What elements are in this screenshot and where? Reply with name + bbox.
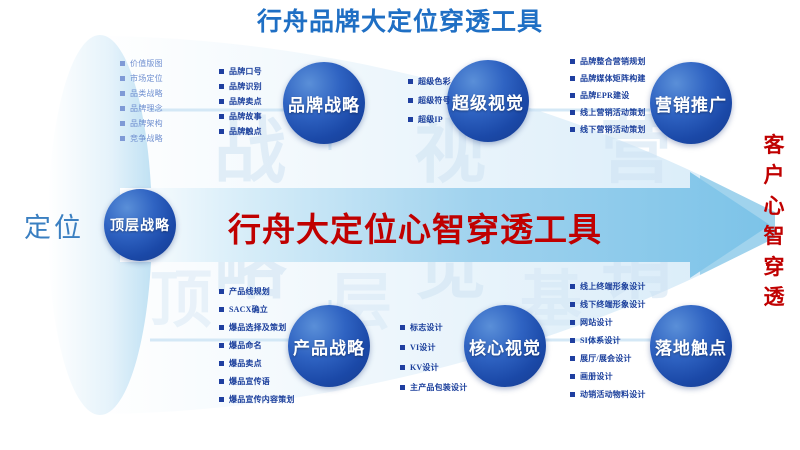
node-super-visual[interactable]: 超级视觉: [447, 60, 529, 142]
list-item: 品牌卖点: [219, 96, 262, 107]
list-item: 超级色彩: [408, 76, 451, 87]
list-item: 展厅/展会设计: [570, 353, 646, 364]
node-marketing-promotion[interactable]: 营销推广: [650, 62, 732, 144]
node-brand-strategy-label: 品牌战略: [288, 91, 360, 116]
bullet-icon: [219, 379, 224, 384]
bullet-icon: [400, 325, 405, 330]
bullet-icon: [400, 345, 405, 350]
list-item: SACX确立: [219, 304, 295, 315]
bullet-icon: [570, 93, 575, 98]
bullet-icon: [120, 91, 125, 96]
bullet-icon: [219, 307, 224, 312]
bullet-icon: [219, 343, 224, 348]
bullet-icon: [219, 361, 224, 366]
bullet-icon: [570, 320, 575, 325]
node-marketing-promotion-label: 营销推广: [655, 91, 727, 116]
list-super-visual: 超级色彩 超级符号 超级IP: [408, 76, 451, 129]
list-item: 竞争战略: [120, 133, 163, 144]
list-item: 超级符号: [408, 95, 451, 106]
list-item: 爆品命名: [219, 340, 295, 351]
list-item: 产品线规划: [219, 286, 295, 297]
list-item: 品类战略: [120, 88, 163, 99]
bullet-icon: [408, 98, 413, 103]
list-item: 品牌触点: [219, 126, 262, 137]
bullet-icon: [219, 397, 224, 402]
list-item: 爆品选择及策划: [219, 322, 295, 333]
list-landing-touchpoint: 线上终端形象设计 线下终端形象设计 网站设计 SI体系设计 展厅/展会设计 画册…: [570, 281, 646, 404]
bullet-icon: [219, 114, 224, 119]
list-item: 价值版图: [120, 58, 163, 69]
right-label-char: 客: [754, 130, 794, 160]
diagram-canvas: 战 视 营 略 觉 销 顶 层 基 行舟品牌大定位穿透工具 定位 行舟大定位心智…: [0, 0, 800, 450]
list-item: 线上终端形象设计: [570, 281, 646, 292]
list-item: 品牌口号: [219, 66, 262, 77]
list-item: 爆品宣传内容策划: [219, 394, 295, 405]
bullet-icon: [219, 69, 224, 74]
bullet-icon: [120, 136, 125, 141]
bullet-icon: [219, 289, 224, 294]
list-item: 品牌媒体矩阵构建: [570, 73, 646, 84]
node-super-visual-label: 超级视觉: [452, 89, 524, 114]
list-item: 爆品卖点: [219, 358, 295, 369]
node-top-strategy-label: 顶层战略: [110, 215, 170, 235]
list-item: 标志设计: [400, 322, 467, 333]
list-product-strategy: 产品线规划 SACX确立 爆品选择及策划 爆品命名 爆品卖点 爆品宣传语 爆品宣…: [219, 286, 295, 409]
list-item: 爆品宣传语: [219, 376, 295, 387]
list-item: 网站设计: [570, 317, 646, 328]
node-product-strategy[interactable]: 产品战略: [288, 305, 370, 387]
list-item: 市场定位: [120, 73, 163, 84]
list-item: 品牌架构: [120, 118, 163, 129]
bullet-icon: [120, 121, 125, 126]
list-item: 线下营销活动策划: [570, 124, 646, 135]
bullet-icon: [570, 374, 575, 379]
bullet-icon: [570, 392, 575, 397]
bullet-icon: [408, 117, 413, 122]
node-product-strategy-label: 产品战略: [293, 334, 365, 359]
node-brand-strategy[interactable]: 品牌战略: [283, 62, 365, 144]
list-core-visual: 标志设计 VI设计 KV设计 主产品包装设计: [400, 322, 467, 397]
bullet-icon: [570, 302, 575, 307]
right-label-char: 智: [754, 221, 794, 251]
list-item: 品牌识别: [219, 81, 262, 92]
list-marketing-promotion: 品牌整合营销规划 品牌媒体矩阵构建 品牌EPR建设 线上营销活动策划 线下营销活…: [570, 56, 646, 139]
list-item: 品牌整合营销规划: [570, 56, 646, 67]
list-top-strategy: 价值版图 市场定位 品类战略 品牌理念 品牌架构 竞争战略: [120, 58, 163, 148]
list-item: 品牌理念: [120, 103, 163, 114]
bullet-icon: [570, 110, 575, 115]
right-label-char: 心: [754, 191, 794, 221]
list-item: 线上营销活动策划: [570, 107, 646, 118]
list-item: 线下终端形象设计: [570, 299, 646, 310]
bullet-icon: [570, 338, 575, 343]
bullet-icon: [570, 356, 575, 361]
list-item: SI体系设计: [570, 335, 646, 346]
bullet-icon: [570, 76, 575, 81]
center-headline: 行舟大定位心智穿透工具: [215, 203, 615, 251]
node-landing-touchpoint-label: 落地触点: [655, 334, 727, 359]
bullet-icon: [219, 325, 224, 330]
bullet-icon: [400, 385, 405, 390]
bullet-icon: [570, 59, 575, 64]
list-brand-strategy: 品牌口号 品牌识别 品牌卖点 品牌故事 品牌触点: [219, 66, 262, 141]
list-item: VI设计: [400, 342, 467, 353]
right-outcome-label: 客 户 心 智 穿 透: [754, 130, 794, 313]
node-core-visual-label: 核心视觉: [469, 334, 541, 359]
bullet-icon: [408, 79, 413, 84]
bullet-icon: [219, 84, 224, 89]
list-item: 主产品包装设计: [400, 382, 467, 393]
list-item: KV设计: [400, 362, 467, 373]
page-title: 行舟品牌大定位穿透工具: [0, 2, 800, 38]
right-label-char: 户: [754, 160, 794, 190]
list-item: 画册设计: [570, 371, 646, 382]
list-item: 品牌故事: [219, 111, 262, 122]
bullet-icon: [570, 127, 575, 132]
bullet-icon: [400, 365, 405, 370]
list-item: 超级IP: [408, 114, 451, 125]
list-item: 品牌EPR建设: [570, 90, 646, 101]
bullet-icon: [219, 99, 224, 104]
bullet-icon: [120, 106, 125, 111]
list-item: 动销活动物料设计: [570, 389, 646, 400]
node-core-visual[interactable]: 核心视觉: [464, 305, 546, 387]
node-landing-touchpoint[interactable]: 落地触点: [650, 305, 732, 387]
bullet-icon: [219, 129, 224, 134]
right-label-char: 穿: [754, 252, 794, 282]
bullet-icon: [120, 61, 125, 66]
node-top-strategy[interactable]: 顶层战略: [104, 189, 176, 261]
bullet-icon: [570, 284, 575, 289]
bullet-icon: [120, 76, 125, 81]
right-label-char: 透: [754, 282, 794, 312]
left-stage-label: 定位: [8, 206, 100, 245]
